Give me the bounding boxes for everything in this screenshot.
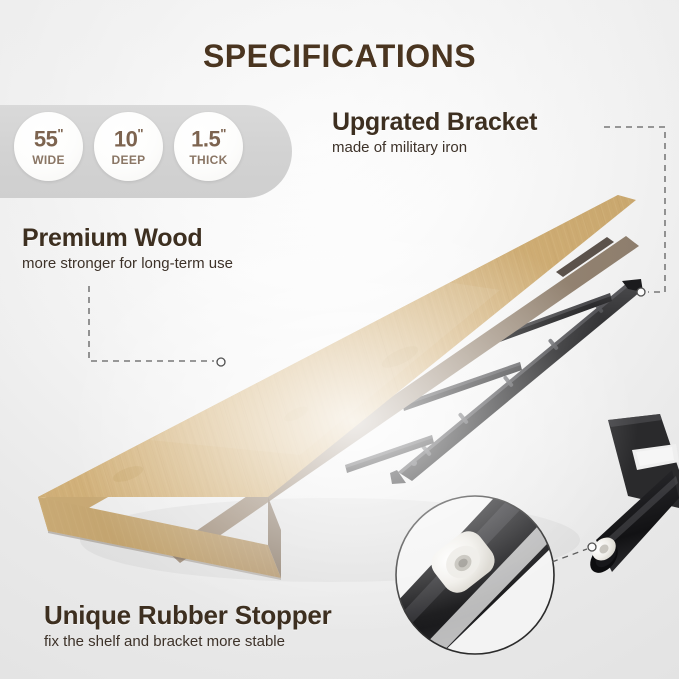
badge-label-width: WIDE xyxy=(32,154,65,166)
page-title: SPECIFICATIONS xyxy=(0,38,679,75)
bracket-closeup xyxy=(585,414,679,578)
spec-badge-depth: 10" DEEP xyxy=(94,112,163,181)
callout-bracket: Upgrated Bracket made of military iron xyxy=(332,108,537,156)
badge-value-depth: 10" xyxy=(114,127,143,150)
stopper-magnifier-inset xyxy=(380,470,580,665)
callout-wood: Premium Wood more stronger for long-term… xyxy=(22,224,233,272)
callout-wood-subtext: more stronger for long-term use xyxy=(22,255,233,272)
callout-stopper-subtext: fix the shelf and bracket more stable xyxy=(44,633,332,650)
callout-stopper-heading: Unique Rubber Stopper xyxy=(44,600,332,631)
badge-label-thickness: THICK xyxy=(189,154,227,166)
callout-bracket-heading: Upgrated Bracket xyxy=(332,108,537,137)
callout-stopper: Unique Rubber Stopper fix the shelf and … xyxy=(44,600,332,650)
spec-badge-group: 55" WIDE 10" DEEP 1.5" THICK xyxy=(14,112,243,181)
callout-wood-heading: Premium Wood xyxy=(22,224,233,253)
badge-value-width: 55" xyxy=(34,127,63,150)
badge-value-thickness: 1.5" xyxy=(191,127,226,150)
product-photo-area xyxy=(0,0,679,679)
badge-label-depth: DEEP xyxy=(112,154,146,166)
callout-bracket-subtext: made of military iron xyxy=(332,139,537,156)
product-illustration xyxy=(0,0,679,679)
infographic-canvas: SPECIFICATIONS 55" WIDE 10" DEEP 1.5" TH… xyxy=(0,0,679,679)
spec-badge-width: 55" WIDE xyxy=(14,112,83,181)
spec-badge-thickness: 1.5" THICK xyxy=(174,112,243,181)
